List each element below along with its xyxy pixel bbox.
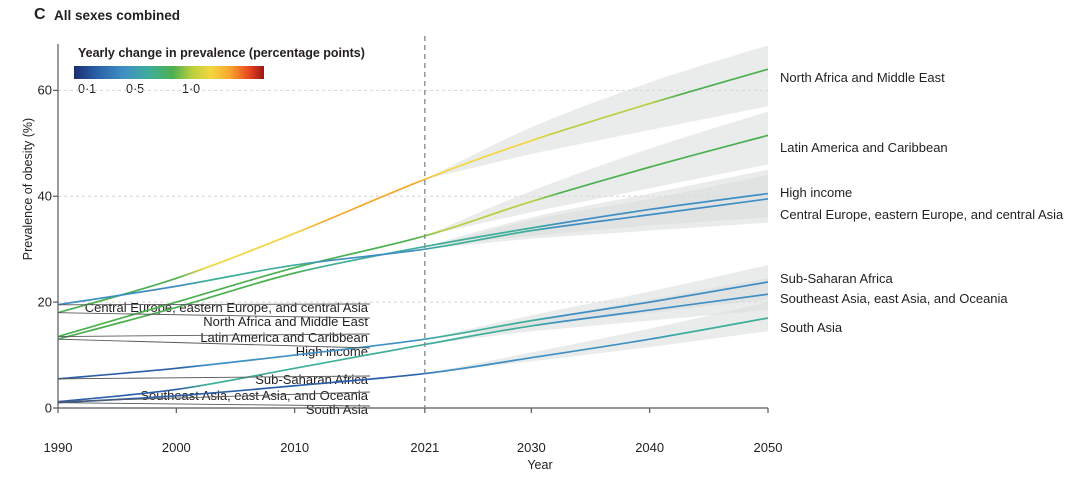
chart-figure: C All sexes combined Yearly change in pr… xyxy=(0,0,1080,480)
plot-area xyxy=(0,0,1080,480)
